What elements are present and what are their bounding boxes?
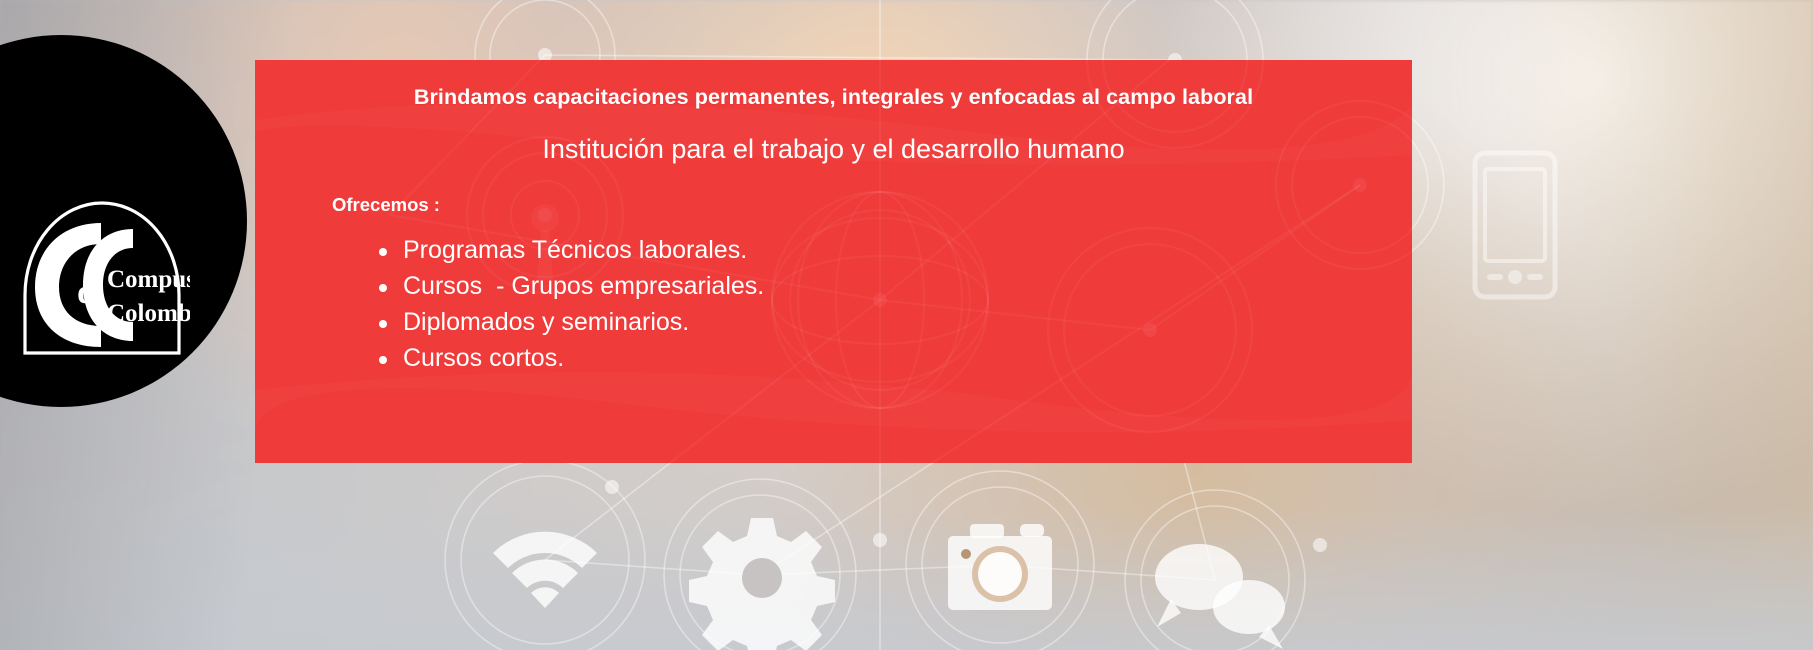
logo-name-line2: Colombia	[107, 300, 190, 327]
offer-label: Ofrecemos :	[332, 194, 1352, 216]
list-item: Programas Técnicos laborales.	[377, 233, 1352, 269]
logo-letter-d: d	[77, 274, 96, 311]
list-item: Diplomados y seminarios.	[377, 305, 1352, 341]
company-logo-mark: d Compusis Colombia	[15, 195, 190, 355]
logo-name-line1: Compusis	[107, 266, 190, 293]
list-item: Cursos - Grupos empresariales.	[377, 269, 1352, 305]
promo-panel: Brindamos capacitaciones permanentes, in…	[255, 60, 1412, 463]
promo-headline: Brindamos capacitaciones permanentes, in…	[315, 82, 1352, 113]
offer-list: Programas Técnicos laborales. Cursos - G…	[377, 233, 1352, 376]
promo-subtitle: Institución para el trabajo y el desarro…	[315, 133, 1352, 167]
list-item: Cursos cortos.	[377, 341, 1352, 377]
